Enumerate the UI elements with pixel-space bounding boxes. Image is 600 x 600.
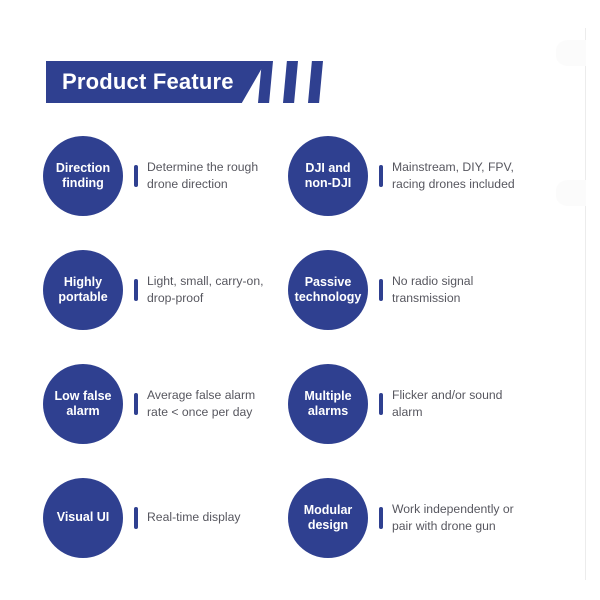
feature-description: Work independently orpair with drone gun — [392, 501, 538, 536]
feature-item-passive-technology: Passivetechnology No radio signaltransmi… — [288, 247, 538, 333]
feature-badge: Modulardesign — [288, 478, 368, 558]
feature-divider-icon — [379, 279, 383, 301]
feature-grid: Directionfinding Determine the roughdron… — [0, 133, 600, 589]
banner: Product Feature — [46, 61, 326, 103]
feature-divider-icon — [134, 279, 138, 301]
feature-description: Real-time display — [147, 509, 283, 526]
banner-stripe-icon — [283, 61, 298, 103]
feature-badge: Visual UI — [43, 478, 123, 558]
feature-description: Light, small, carry-on,drop-proof — [147, 273, 283, 308]
feature-item-dji-and-non-dji: DJI andnon-DJI Mainstream, DIY, FPV,raci… — [288, 133, 538, 219]
feature-item-low-false-alarm: Low falsealarm Average false alarmrate <… — [43, 361, 283, 447]
feature-description: Mainstream, DIY, FPV,racing drones inclu… — [392, 159, 538, 194]
feature-badge: Directionfinding — [43, 136, 123, 216]
feature-badge: DJI andnon-DJI — [288, 136, 368, 216]
feature-item-modular-design: Modulardesign Work independently orpair … — [288, 475, 538, 561]
feature-divider-icon — [379, 393, 383, 415]
feature-divider-icon — [134, 165, 138, 187]
feature-divider-icon — [134, 507, 138, 529]
feature-row: Directionfinding Determine the roughdron… — [0, 133, 600, 247]
feature-badge: Passivetechnology — [288, 250, 368, 330]
feature-divider-icon — [379, 507, 383, 529]
feature-item-visual-ui: Visual UI Real-time display — [43, 475, 283, 561]
banner-stripe-icon — [308, 61, 323, 103]
page-title: Product Feature — [62, 61, 234, 103]
feature-badge: Multiplealarms — [288, 364, 368, 444]
feature-row: Visual UI Real-time display Modulardesig… — [0, 475, 600, 589]
feature-description: Average false alarmrate < once per day — [147, 387, 283, 422]
feature-badge: Highlyportable — [43, 250, 123, 330]
product-feature-page: Product Feature Directionfinding Determi… — [0, 0, 600, 600]
feature-description: No radio signaltransmission — [392, 273, 538, 308]
feature-item-multiple-alarms: Multiplealarms Flicker and/or soundalarm — [288, 361, 538, 447]
feature-item-direction-finding: Directionfinding Determine the roughdron… — [43, 133, 283, 219]
feature-description: Flicker and/or soundalarm — [392, 387, 538, 422]
feature-row: Highlyportable Light, small, carry-on,dr… — [0, 247, 600, 361]
page-edge-smudge — [556, 40, 586, 66]
feature-item-highly-portable: Highlyportable Light, small, carry-on,dr… — [43, 247, 283, 333]
feature-divider-icon — [134, 393, 138, 415]
feature-row: Low falsealarm Average false alarmrate <… — [0, 361, 600, 475]
feature-badge: Low falsealarm — [43, 364, 123, 444]
feature-description: Determine the roughdrone direction — [147, 159, 283, 194]
feature-divider-icon — [379, 165, 383, 187]
